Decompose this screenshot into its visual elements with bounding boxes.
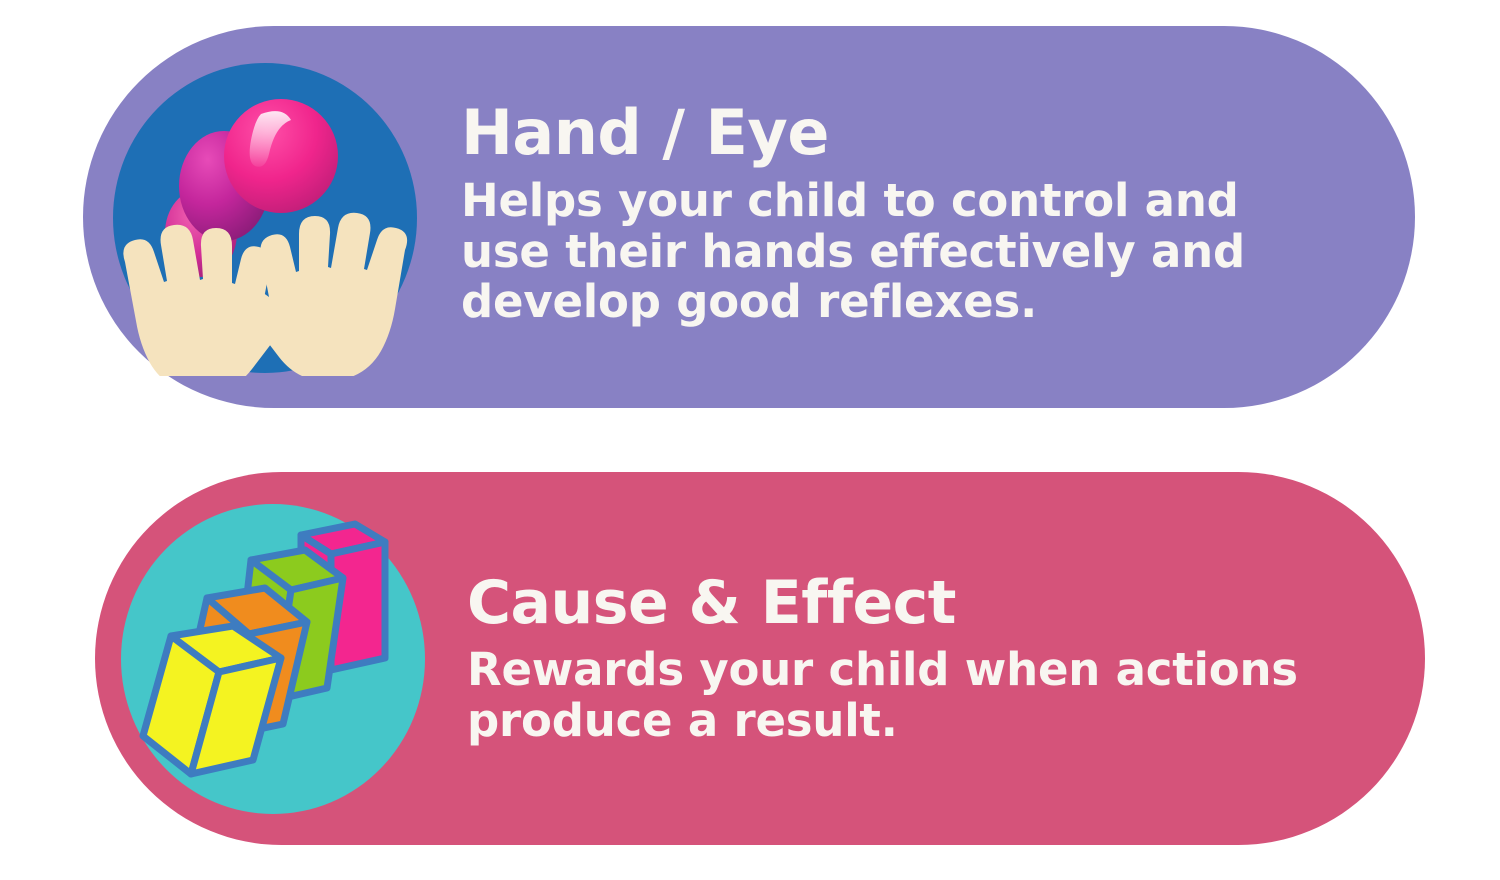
- card-text-block: Cause & Effect Rewards your child when a…: [431, 573, 1425, 746]
- hands-juggling-balls-icon: [109, 58, 421, 376]
- card-description-hand-eye: Helps your child to control and use thei…: [461, 176, 1341, 327]
- page-title-cause-effect: Cause & Effect: [467, 573, 1375, 633]
- card-text-block: Hand / Eye Helps your child to control a…: [421, 102, 1415, 327]
- page-title-hand-eye: Hand / Eye: [461, 102, 1365, 164]
- desc-line: use their hands effectively and: [461, 227, 1341, 277]
- desc-line: develop good reflexes.: [461, 277, 1341, 327]
- card-hand-eye[interactable]: Hand / Eye Helps your child to control a…: [83, 26, 1415, 408]
- desc-line: Helps your child to control and: [461, 176, 1341, 226]
- desc-line: produce a result.: [467, 696, 1375, 746]
- card-description-cause-effect: Rewards your child when actions produce …: [467, 645, 1375, 746]
- falling-dominoes-blocks-icon: [115, 498, 431, 820]
- card-cause-effect[interactable]: Cause & Effect Rewards your child when a…: [95, 472, 1425, 845]
- desc-line: Rewards your child when actions: [467, 645, 1375, 695]
